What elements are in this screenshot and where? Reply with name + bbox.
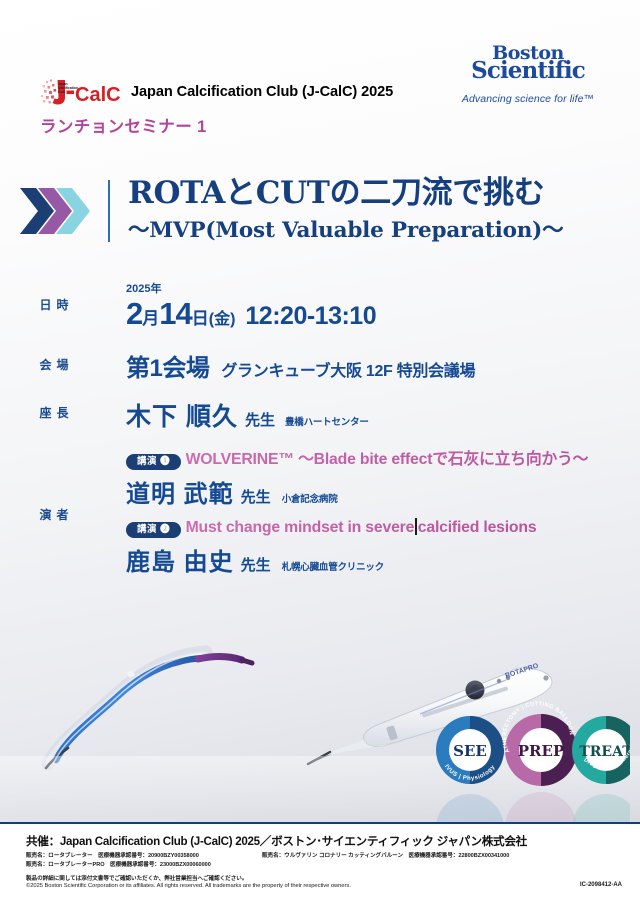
title-block: ROTAとCUTの二刀流で挑む ～MVP(Most Valuable Prepa… (0, 168, 640, 253)
date-month-unit: 月 (142, 304, 159, 329)
poster-header: CalC Japan Calcification Club Japan Calc… (0, 0, 640, 160)
lecture-title-text: Must change mindset in severe (186, 519, 415, 536)
venue-hall-post: 会場 (162, 348, 209, 383)
date-year: 2025年 (126, 284, 640, 295)
badge-prep-label: PREP (518, 742, 564, 760)
chair-line: 木下 順久 先生 豊橋ハートセンター (126, 392, 640, 433)
badges-reflection (420, 778, 630, 822)
poster-footer: 共催：Japan Calcification Club (J-CalC) 202… (0, 822, 640, 906)
row-chair: 座長 木下 順久 先生 豊橋ハートセンター (0, 392, 640, 440)
footer-organizers: 共催：Japan Calcification Club (J-CalC) 202… (26, 833, 527, 849)
row-venue: 会場 第 1 会場 グランキューブ大阪 12F 特別会議場 (0, 344, 640, 390)
footer-product-line-2: 販売名：ウルヴァリン コロナリー カッティングバルーン 医療機器承認番号：228… (262, 851, 509, 859)
date-time-range: 12:20-13:10 (245, 302, 376, 331)
seminar-poster: CalC Japan Calcification Club Japan Calc… (0, 0, 640, 906)
jcalc-branding: CalC Japan Calcification Club Japan Calc… (40, 78, 393, 106)
lecture-title: Must change mindset in severecalcified l… (186, 518, 537, 537)
lecture-title-text-2: calcified lesions (418, 519, 537, 536)
date-day-of-week: (金) (209, 305, 236, 329)
row-datetime: 日時 2025年 2 月 14 日 (金) 12:20-13:10 (0, 284, 640, 342)
date-day-number: 14 (159, 296, 191, 332)
label-speakers: 演者 (0, 442, 108, 523)
lecture-badge: 講演 ❷ (126, 522, 181, 538)
date-month-number: 2 (126, 296, 142, 332)
chair-honorific: 先生 (245, 409, 275, 430)
speaker-entry: 講演 ❶ WOLVERINE™ ～Blade bite effectで石灰に立ち… (126, 446, 640, 509)
footer-product-line-1: 販売名：ロータブレーター 医療機器承認番号：20900BZY00358000 (26, 851, 199, 859)
speaker-honorific: 先生 (241, 486, 271, 507)
footer-copyright: ©2025 Boston Scientific Corporation or i… (26, 883, 351, 889)
label-datetime: 日時 (0, 284, 108, 313)
footer-disclaimer: 製品の詳細に関しては添付文書等でご確認いただくか、弊社営業担当へご確認ください。 (26, 874, 247, 882)
badge-see-label: SEE (453, 742, 487, 760)
page-subtitle: ～MVP(Most Valuable Preparation)～ (128, 213, 640, 244)
lecture-title: WOLVERINE™ ～Blade bite effectで石灰に立ち向かう～ (186, 446, 589, 469)
jcalc-logo-icon: CalC Japan Calcification Club (40, 78, 124, 106)
footer-document-id: IC-2098412-AA (580, 882, 622, 888)
row-speakers: 演者 講演 ❶ WOLVERINE™ ～Blade bite effectで石灰… (0, 442, 640, 622)
speaker-affiliation: 札幌心臓血管クリニック (282, 559, 384, 573)
chevron-logo-icon (0, 184, 108, 238)
text-cursor (415, 518, 417, 535)
speaker-name: 鹿島 由史 (126, 542, 234, 577)
venue-hall-number: 1 (150, 355, 163, 383)
society-title: Japan Calcification Club (J-CalC) 2025 (131, 84, 393, 100)
info-section: 日時 2025年 2 月 14 日 (金) 12:20-13:10 会場 第 (0, 284, 640, 624)
badge-prep: PREP ATHERECTOMY | CUTTING BALLOON (502, 701, 577, 786)
chair-name: 木下 順久 (126, 397, 238, 433)
speaker-entry: 講演 ❷ Must change mindset in severecalcif… (126, 518, 640, 577)
date-time-line: 2 月 14 日 (金) 12:20-13:10 (126, 296, 640, 332)
speaker-affiliation: 小倉記念病院 (282, 491, 338, 505)
date-day-unit: 日 (192, 304, 209, 329)
svg-text:CalC: CalC (75, 84, 121, 106)
chair-affiliation: 豊橋ハートセンター (285, 414, 369, 428)
label-venue: 会場 (0, 344, 108, 373)
badge-see: SEE IVUS | Physiology (436, 716, 504, 784)
venue-hall-pre: 第 (126, 348, 150, 383)
seminar-label: ランチョンセミナー 1 (40, 113, 207, 137)
svg-text:Club: Club (58, 90, 66, 94)
label-chair: 座長 (0, 392, 108, 421)
lecture-badge: 講演 ❶ (126, 454, 181, 470)
footer-product-line-3: 販売名：ロータブレーターPRO 医療機器承認番号：23000BZX0006000… (26, 860, 211, 868)
page-title: ROTAとCUTの二刀流で挑む (128, 177, 640, 210)
lecture-title-text: WOLVERINE™ ～Blade bite effectで石灰に立ち向かう～ (186, 451, 589, 468)
sponsor-tagline: Advancing science for life™ (452, 93, 604, 105)
venue-name: グランキューブ大阪 12F 特別会議場 (221, 357, 475, 381)
svg-text:Scientific: Scientific (471, 57, 585, 84)
speaker-line: 鹿島 由史 先生 札幌心臓血管クリニック (126, 542, 640, 577)
speaker-name: 道明 武範 (126, 474, 234, 509)
speaker-honorific: 先生 (241, 554, 271, 575)
venue-line: 第 1 会場 グランキューブ大阪 12F 特別会議場 (126, 344, 640, 383)
speaker-line: 道明 武範 先生 小倉記念病院 (126, 474, 640, 509)
title-divider (108, 180, 110, 242)
boston-scientific-logo: Boston Scientific Advancing science for … (452, 40, 604, 105)
